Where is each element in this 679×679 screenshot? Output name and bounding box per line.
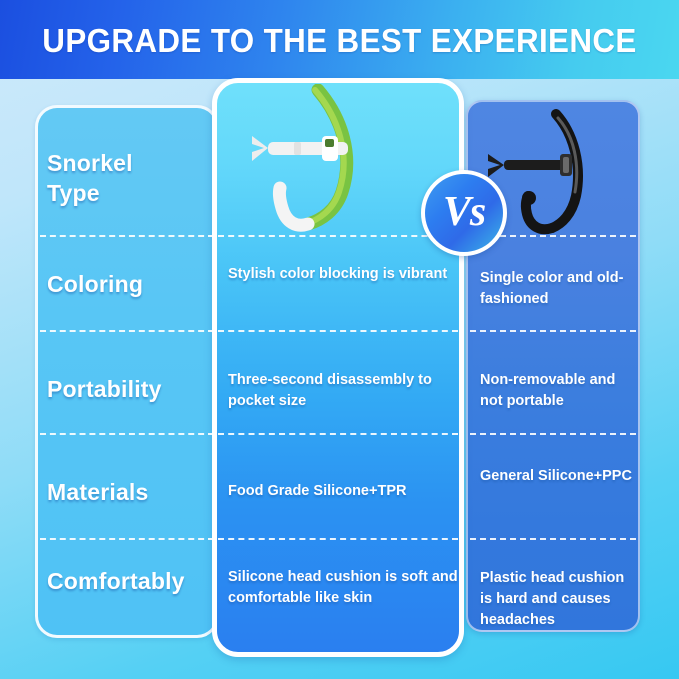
feature-label-line1: Snorkel <box>47 150 133 176</box>
ours-value-comfortably: Silicone head cushion is soft and comfor… <box>228 567 460 609</box>
row-divider-3-right <box>470 433 636 435</box>
row-divider-2-right <box>470 330 636 332</box>
row-divider-4-left <box>40 538 214 540</box>
ours-value-materials: Food Grade Silicone+TPR <box>228 481 460 502</box>
feature-label-comfortably: Comfortably <box>47 566 219 596</box>
row-divider-1-left <box>40 235 214 237</box>
theirs-value-coloring: Single color and old-fashioned <box>480 268 640 310</box>
feature-label-coloring: Coloring <box>47 269 219 299</box>
feature-label-materials: Materials <box>47 477 219 507</box>
comparison-infographic: UPGRADE TO THE BEST EXPERIENCE <box>0 0 679 679</box>
vs-badge: Vs <box>421 170 507 256</box>
vs-label: Vs <box>443 191 485 233</box>
theirs-value-materials: General Silicone+PPC <box>480 466 640 487</box>
theirs-value-portability: Non-removable and not portable <box>480 370 640 412</box>
row-divider-3-left <box>40 433 214 435</box>
theirs-value-comfortably: Plastic head cushion is hard and causes … <box>480 568 640 631</box>
page-title: UPGRADE TO THE BEST EXPERIENCE <box>17 22 662 60</box>
row-divider-4-right <box>470 538 636 540</box>
feature-label-line2: Type <box>47 180 100 206</box>
ours-value-portability: Three-second disassembly to pocket size <box>228 370 460 412</box>
black-snorkel-icon <box>486 108 646 248</box>
row-divider-4-mid <box>218 538 458 540</box>
feature-label-portability: Portability <box>47 374 219 404</box>
row-divider-2-left <box>40 330 214 332</box>
row-divider-1-mid <box>218 235 458 237</box>
ours-value-coloring: Stylish color blocking is vibrant <box>228 264 460 285</box>
row-divider-2-mid <box>218 330 458 332</box>
green-snorkel-icon <box>246 84 436 244</box>
row-divider-3-mid <box>218 433 458 435</box>
feature-label-snorkel-type: Snorkel Type <box>47 148 219 209</box>
